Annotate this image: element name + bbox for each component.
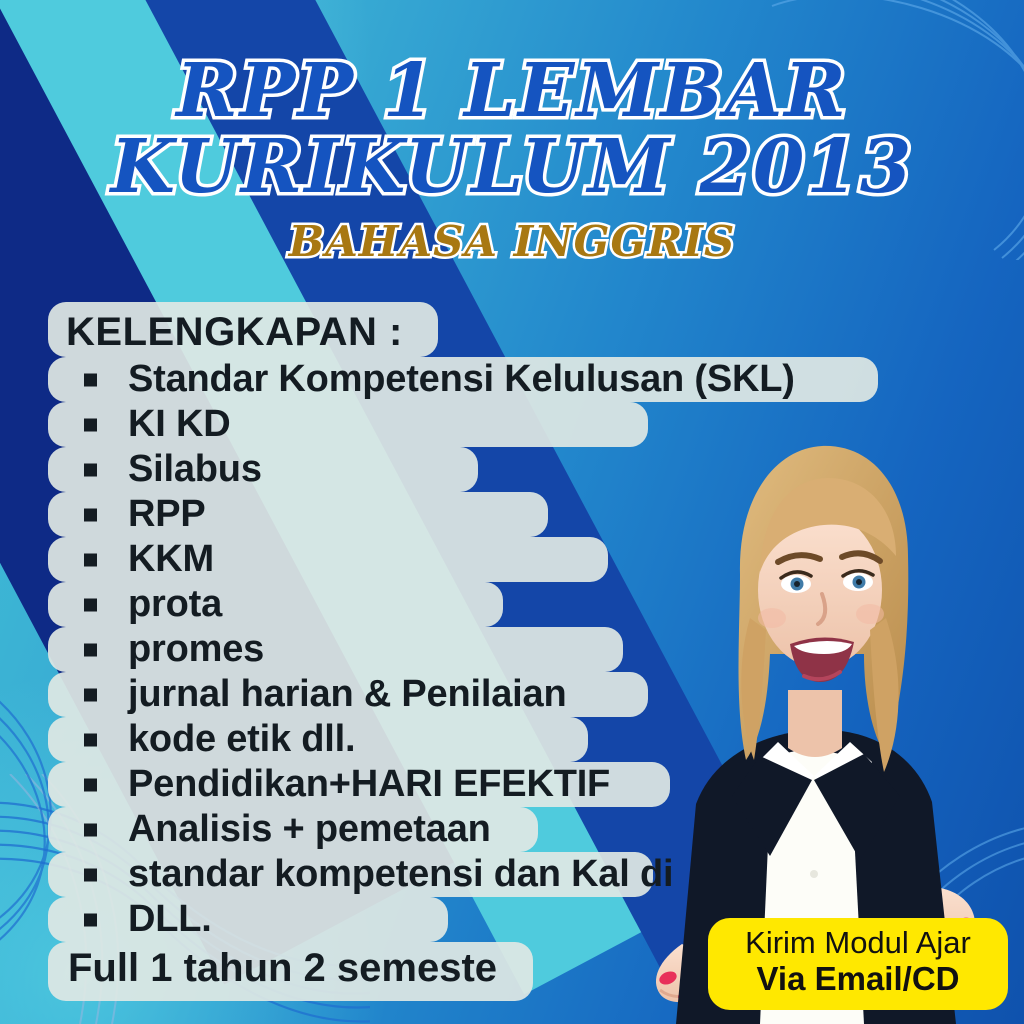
- list-item-background: [48, 582, 503, 627]
- list-item: prota: [48, 582, 884, 627]
- poster-canvas: RPP 1 LEMBAR KURIKULUM 2013 BAHASA INGGR…: [0, 0, 1024, 1024]
- bullet-square-icon: [84, 598, 97, 611]
- list-item-label: standar kompetensi dan Kal di: [128, 853, 673, 896]
- bullet-square-icon: [84, 823, 97, 836]
- list-item: Silabus: [48, 447, 884, 492]
- list-item: RPP: [48, 492, 884, 537]
- bullet-square-icon: [84, 373, 97, 386]
- list-item-label: DLL.: [128, 898, 212, 941]
- list-item-label: prota: [128, 583, 222, 626]
- list-item: Pendidikan+HARI EFEKTIF: [48, 762, 884, 807]
- bullet-square-icon: [84, 418, 97, 431]
- poster-title-line-2: KURIKULUM 2013: [0, 132, 1024, 202]
- bullet-square-icon: [84, 463, 97, 476]
- features-panel: KELENGKAPAN : Standar Kompetensi Kelulus…: [48, 302, 884, 1001]
- panel-heading-row: KELENGKAPAN :: [48, 302, 884, 357]
- list-item: promes: [48, 627, 884, 672]
- list-item: KI KD: [48, 402, 884, 447]
- list-item: KKM: [48, 537, 884, 582]
- list-item-background: [48, 492, 548, 537]
- list-item: Analisis + pemetaan: [48, 807, 884, 852]
- list-item: jurnal harian & Penilaian: [48, 672, 884, 717]
- bullet-square-icon: [84, 913, 97, 926]
- bullet-square-icon: [84, 868, 97, 881]
- contact-badge[interactable]: Kirim Modul Ajar Via Email/CD: [708, 918, 1008, 1010]
- list-item-label: Silabus: [128, 448, 262, 491]
- bullet-square-icon: [84, 688, 97, 701]
- bullet-square-icon: [84, 733, 97, 746]
- list-item: Standar Kompetensi Kelulusan (SKL): [48, 357, 884, 402]
- poster-title-line-1: RPP 1 LEMBAR: [0, 56, 1024, 126]
- list-item: kode etik dll.: [48, 717, 884, 762]
- poster-subtitle: BAHASA INGGRIS: [0, 217, 1024, 266]
- list-item: standar kompetensi dan Kal di: [48, 852, 884, 897]
- bullet-square-icon: [84, 508, 97, 521]
- list-item-label: RPP: [128, 493, 206, 536]
- features-list: Standar Kompetensi Kelulusan (SKL) KI KD…: [48, 357, 884, 942]
- list-item-label: Pendidikan+HARI EFEKTIF: [128, 763, 610, 806]
- panel-heading: KELENGKAPAN :: [66, 310, 866, 355]
- bullet-square-icon: [84, 643, 97, 656]
- bullet-square-icon: [84, 778, 97, 791]
- bullet-square-icon: [84, 553, 97, 566]
- headline-block: RPP 1 LEMBAR KURIKULUM 2013 BAHASA INGGR…: [0, 56, 1024, 266]
- list-item-label: KI KD: [128, 403, 230, 446]
- list-item-label: promes: [128, 628, 264, 671]
- list-item-label: KKM: [128, 538, 214, 581]
- badge-line-1: Kirim Modul Ajar: [728, 926, 988, 961]
- list-item-background: [48, 447, 478, 492]
- list-item-label: jurnal harian & Penilaian: [128, 673, 566, 716]
- badge-line-2: Via Email/CD: [728, 961, 988, 998]
- list-item-background: [48, 897, 448, 942]
- list-item-label: Analisis + pemetaan: [128, 808, 491, 851]
- list-item-label: Standar Kompetensi Kelulusan (SKL): [128, 358, 795, 401]
- list-item-label: kode etik dll.: [128, 718, 355, 761]
